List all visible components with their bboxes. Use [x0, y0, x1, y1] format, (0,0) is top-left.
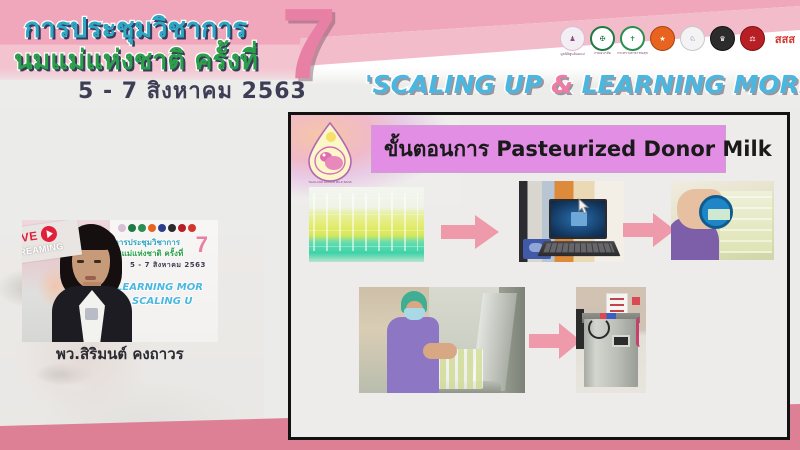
poster-date-range: 5 - 7 สิงหาคม 2563	[130, 260, 206, 271]
wall-switch	[632, 297, 640, 305]
laptop-keyboard	[538, 241, 621, 256]
arrow-step-1-to-2	[439, 213, 501, 251]
presenter-mouth	[85, 276, 96, 280]
royal-patronage-logo: ♟มูลนิธิศูนย์นมแม่	[560, 26, 585, 51]
presenter-eye-left	[77, 260, 84, 263]
conference-tagline: 'SCALING UP & LEARNING MORE'	[365, 70, 800, 99]
logo-caption: กระทรวงสาธารณสุข	[617, 51, 648, 56]
slide-title-text: ขั้นตอนการ Pasteurized Donor Milk	[384, 133, 772, 166]
presenter-eye-right	[94, 260, 101, 263]
photo-temperature-gauge-check	[671, 181, 774, 260]
logo-caption: มูลนิธิศูนย์นมแม่	[560, 52, 584, 57]
pasteurizer-control-panel	[612, 335, 630, 347]
presenter-video-tile[interactable]: การประชุมวิชาการ นมแม่แห่งชาติ ครั้งที่ …	[22, 220, 218, 342]
presentation-slide[interactable]: THAILAND HUMAN MILK BANK ขั้นตอนการ Past…	[288, 112, 790, 440]
photo-nurse-loading-pasteurizer	[359, 287, 525, 393]
conference-header-banner: การประชุมวิชาการ นมแม่แห่งชาติ ครั้งที่ …	[0, 0, 800, 110]
temperature-gauge-icon	[699, 195, 733, 229]
drop-logo-caption: THAILAND HUMAN MILK BANK	[308, 180, 352, 184]
play-icon	[40, 225, 58, 243]
mouse-cursor	[578, 198, 590, 220]
red-institution-logo: ⚖	[740, 26, 765, 51]
poster-tagline-line-2: SCALING U	[132, 296, 193, 307]
poster-edition-number: 7	[196, 234, 208, 256]
human-milk-bank-drop-logo: THAILAND HUMAN MILK BANK	[301, 121, 359, 185]
conference-date-range: 5 - 7 สิงหาคม 2563	[78, 73, 307, 108]
university-seal-logo: ♛	[710, 26, 735, 51]
nurse-face-mask	[404, 308, 425, 320]
tagline-suffix: LEARNING MORE'	[573, 70, 800, 99]
logo-caption: กรมอนามัย	[594, 51, 611, 56]
royal-college-logo: ★	[650, 26, 675, 51]
sponsor-logo-row: ♟มูลนิธิศูนย์นมแม่ ✠กรมอนามัย ✝กระทรวงสา…	[560, 26, 800, 51]
photo-pasteurizer-machine	[576, 287, 646, 393]
tagline-prefix: 'SCALING UP	[365, 70, 551, 99]
pasteurizer-hose	[636, 317, 644, 347]
tagline-ampersand: &	[551, 70, 573, 99]
photo-bottled-donor-milk-rack	[309, 187, 424, 262]
conference-edition-number: 7	[281, 0, 337, 94]
photo-laptop-record-keeping	[519, 181, 624, 262]
presenter-brooch	[85, 308, 98, 320]
department-health-logo: ✝กระทรวงสาธารณสุข	[620, 26, 645, 51]
thai-emblem-logo: ♘	[680, 26, 705, 51]
thaihealth-logo: สสส	[770, 26, 800, 51]
nurse-arm	[423, 343, 457, 359]
pasteurizer-power-cable	[588, 317, 610, 339]
photo-1-artwork	[309, 187, 424, 262]
ministry-public-health-logo: ✠กรมอนามัย	[590, 26, 615, 51]
arrow-step-2-to-3	[621, 211, 677, 249]
arrow-step-4-to-5	[527, 321, 583, 361]
speaker-name-caption: พว.สิริมนต์ คงถาวร	[56, 342, 184, 366]
slide-title-bar: ขั้นตอนการ Pasteurized Donor Milk	[371, 125, 726, 173]
